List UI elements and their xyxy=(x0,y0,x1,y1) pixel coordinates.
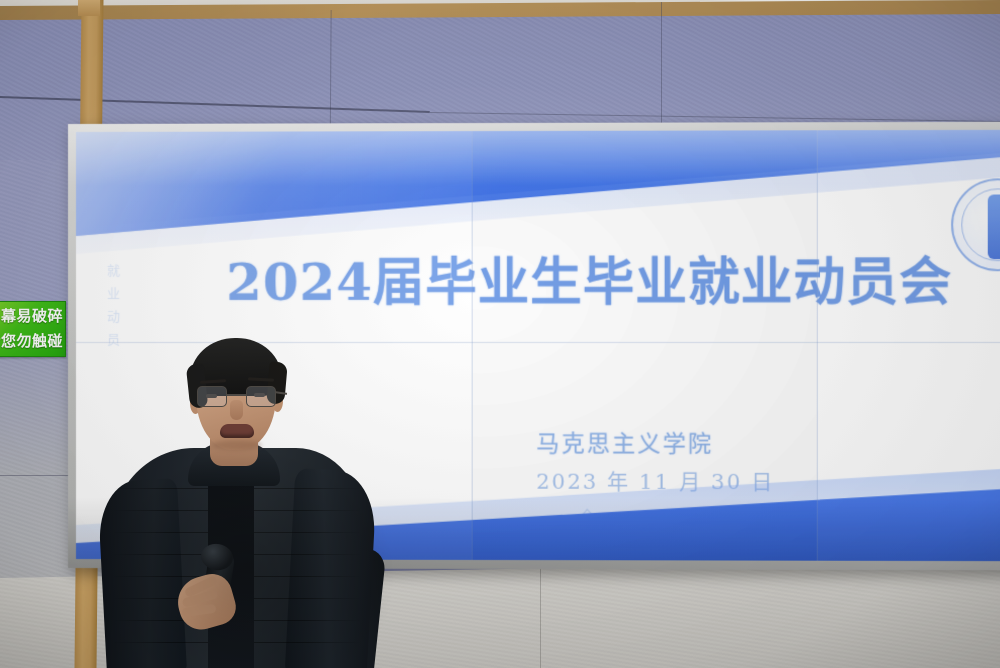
slide-organization: 马克思主义学院 xyxy=(536,424,713,458)
warning-line-2: 请您勿触碰 xyxy=(0,329,63,354)
wall-wood-pilaster-cap xyxy=(78,0,100,16)
presenter-mouth xyxy=(220,424,254,438)
presenter xyxy=(100,330,400,668)
glasses-bridge xyxy=(227,394,246,396)
screen-fragile-warning-sign: 屏幕易破碎 请您勿触碰 xyxy=(0,301,66,357)
wall-panel-seam xyxy=(540,562,541,668)
slide-title: 2024届毕业生毕业就业动员会 xyxy=(226,257,1000,309)
photo-scene: 屏幕易破碎 请您勿触碰 就业动员 2024届毕业生毕业就业动员会 马克思主义学院… xyxy=(0,0,1000,668)
warning-line-1: 屏幕易破碎 xyxy=(0,304,63,329)
glasses-lens-right xyxy=(246,386,276,407)
glasses-lens-left xyxy=(197,386,227,407)
presenter-chin-shadow xyxy=(212,440,262,450)
presenter-nose xyxy=(230,400,243,420)
